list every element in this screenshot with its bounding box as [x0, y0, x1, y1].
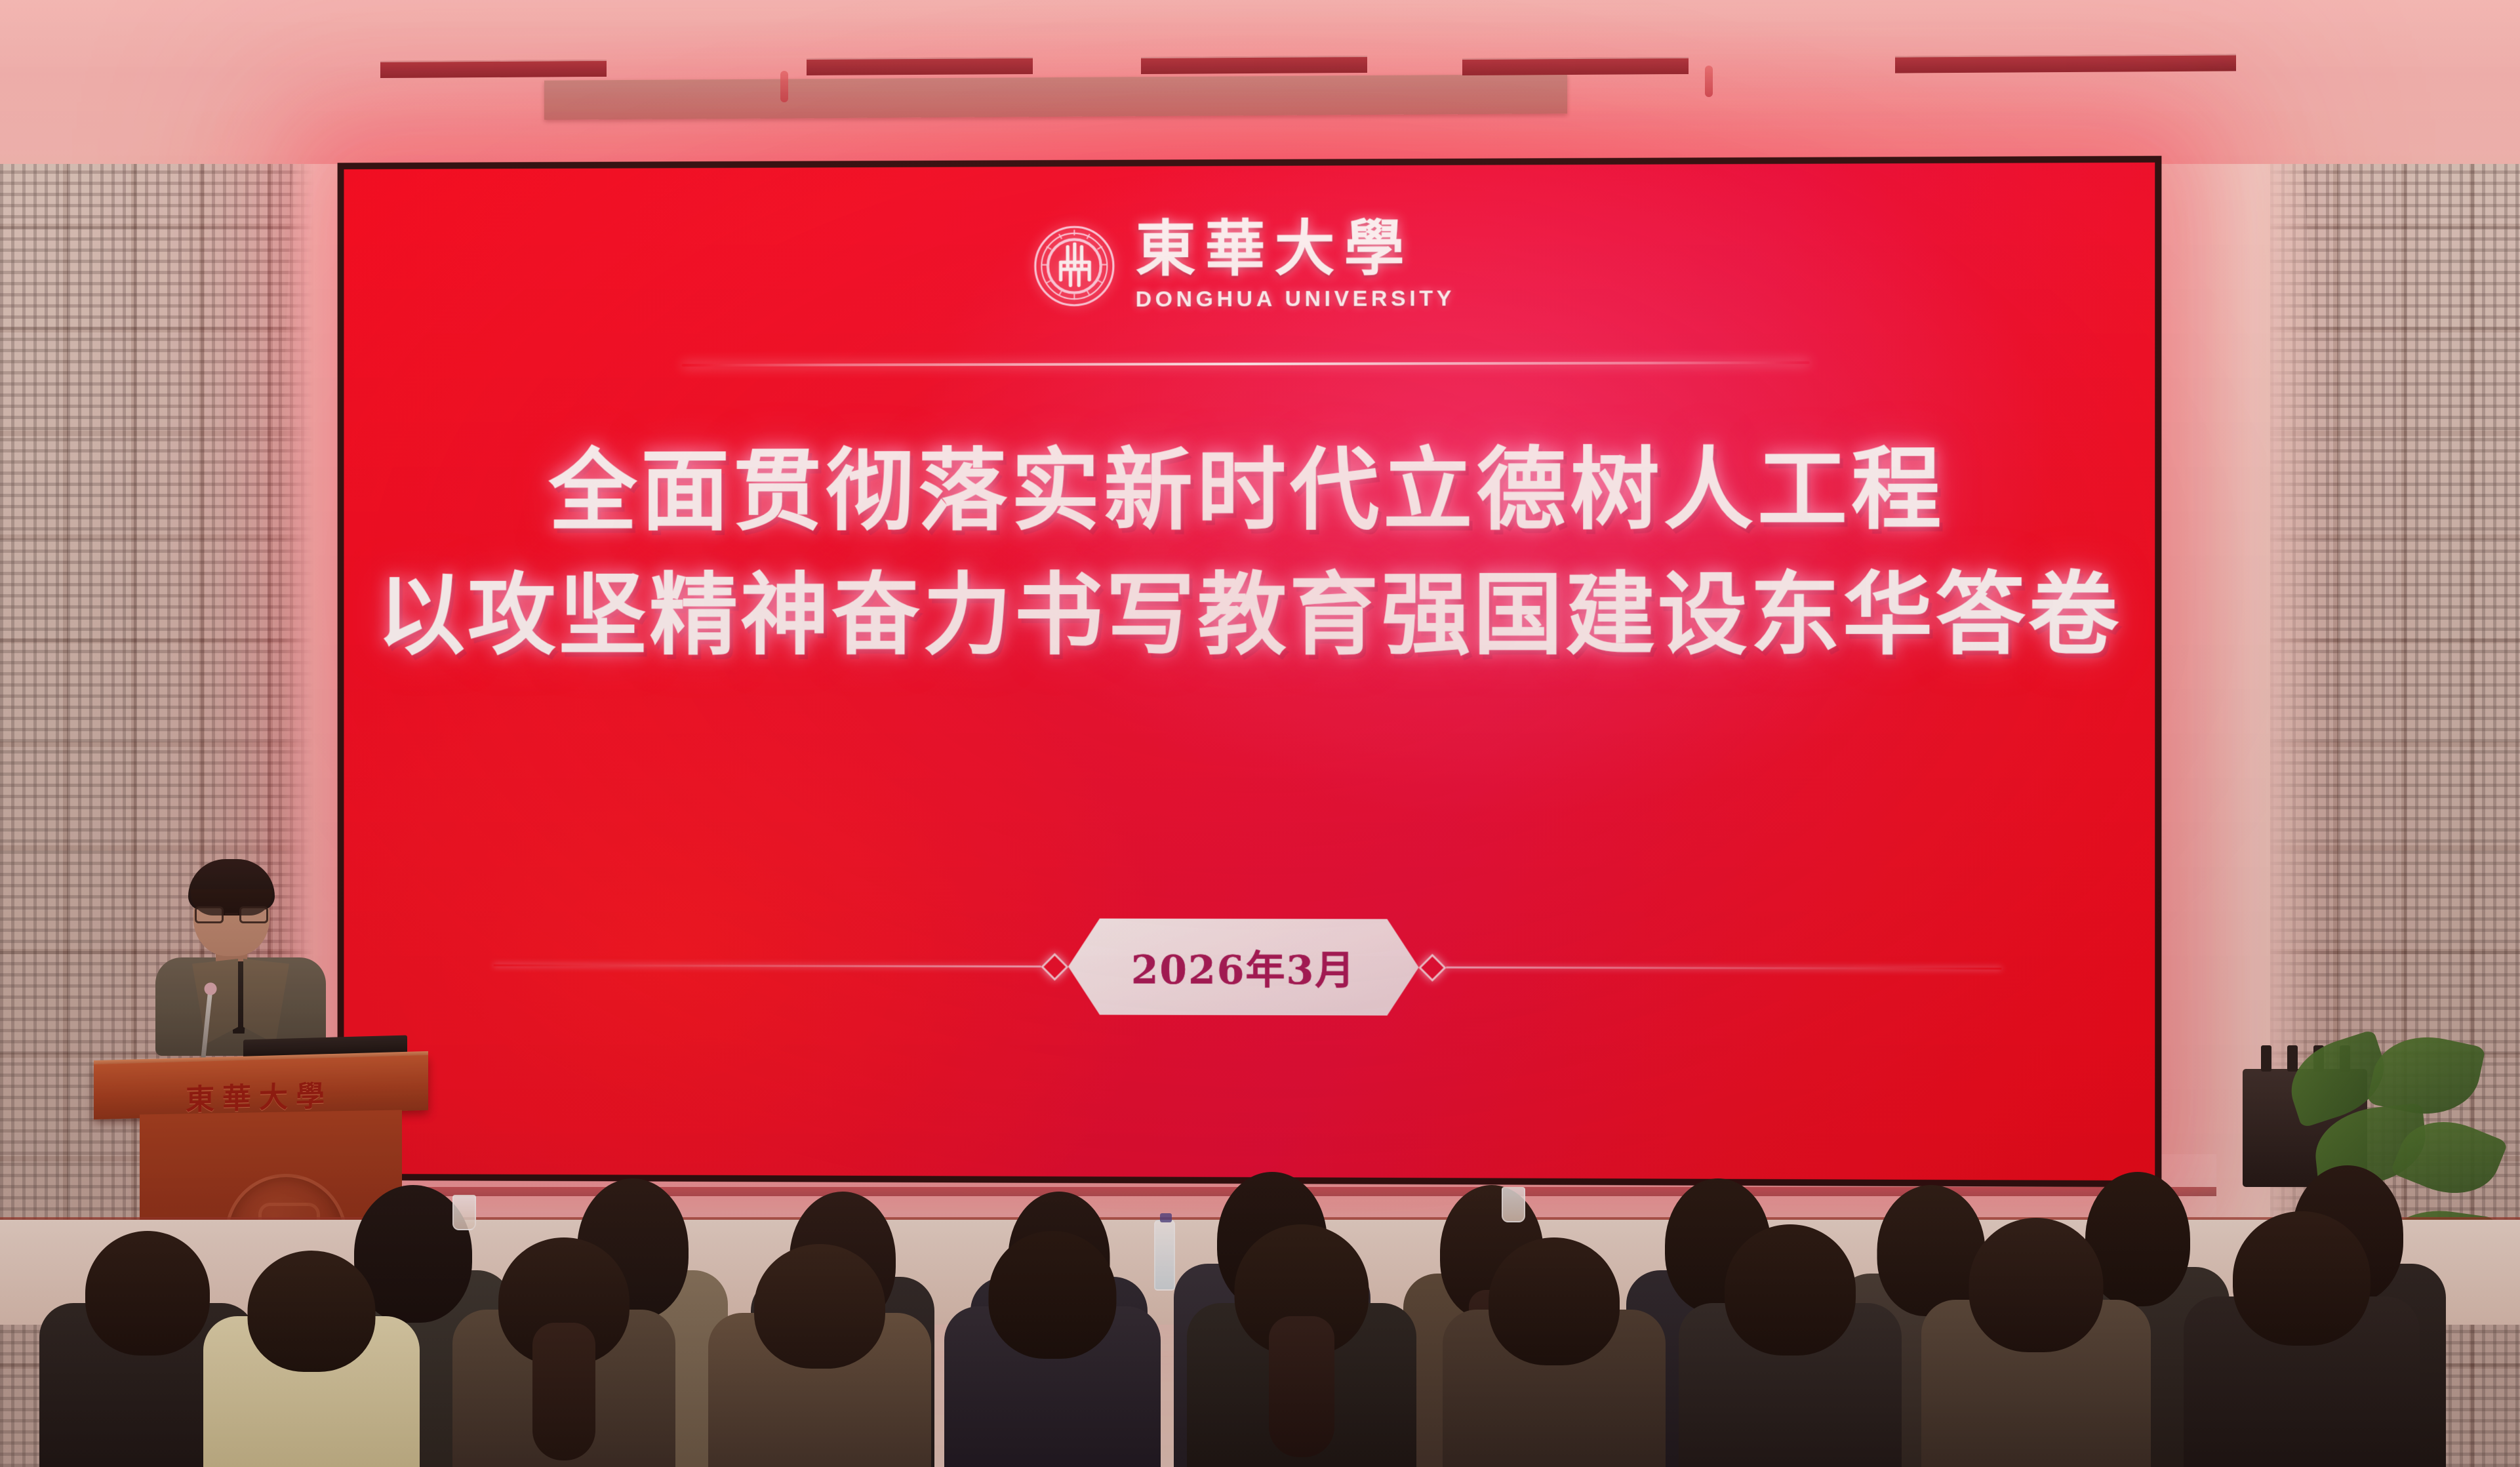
ceiling-vent — [1895, 54, 2236, 73]
ceiling-vent — [1462, 57, 1689, 75]
audience-person-front — [708, 1244, 931, 1467]
audience-person-head — [248, 1251, 376, 1372]
audience-person-head — [989, 1231, 1117, 1359]
audience-person-head — [2233, 1211, 2370, 1346]
audience-person-front — [452, 1237, 675, 1467]
audience-person-head — [1489, 1237, 1620, 1365]
university-logo-block: 東華大學 DONGHUA UNIVERSITY — [344, 215, 2155, 314]
slide-title-line-2: 以攻坚精神奋力书写教育强国建设东华答卷 — [377, 565, 2121, 666]
audience-person-head — [754, 1244, 885, 1369]
speaker-person — [155, 859, 326, 1049]
ornament-line-right — [1447, 967, 2002, 970]
audience-person-head — [1969, 1218, 2104, 1352]
podium-name-plate: 東華大學 — [186, 1072, 332, 1118]
ceiling-vent — [380, 60, 607, 78]
ceiling-vent — [1141, 56, 1367, 74]
audience-person-head — [85, 1231, 210, 1356]
speaker-glasses-icon — [193, 906, 270, 923]
logo-divider — [682, 361, 1810, 367]
ceiling — [0, 0, 2520, 164]
audience-person-front — [1443, 1237, 1666, 1467]
university-name-cn: 東華大學 — [1136, 218, 1414, 279]
ceiling-vent — [807, 57, 1033, 75]
paper-cup — [1502, 1187, 1525, 1222]
ceiling-sprinkler-icon — [780, 71, 788, 102]
conference-hall-scene: 東華大學 DONGHUA UNIVERSITY 全面贯彻落实新时代立德树人工程 … — [0, 0, 2520, 1467]
university-name-en: DONGHUA UNIVERSITY — [1136, 286, 1455, 312]
audience-person-ponytail — [532, 1323, 595, 1460]
audience-person-front — [1921, 1218, 2151, 1467]
audience-area — [0, 1023, 2520, 1467]
slide-title-line-1: 全面贯彻落实新时代立德树人工程 — [549, 440, 1946, 542]
audience-person-front — [203, 1251, 420, 1467]
date-badge: 2026年3月 — [1068, 919, 1419, 1016]
diamond-ornament-icon — [1041, 953, 1068, 980]
speaker-hair — [188, 859, 275, 910]
slide-titles: 全面贯彻落实新时代立德树人工程 以攻坚精神奋力书写教育强国建设东华答卷 — [344, 440, 2155, 666]
ceiling-soffit — [544, 74, 1567, 120]
ceiling-sprinkler-icon — [1705, 66, 1713, 97]
diamond-ornament-icon — [1418, 954, 1447, 981]
paper-cup — [452, 1195, 476, 1230]
audience-person-ponytail — [1269, 1316, 1334, 1457]
university-wordmark: 東華大學 DONGHUA UNIVERSITY — [1136, 218, 1455, 313]
date-badge-text: 2026年3月 — [1131, 938, 1356, 996]
audience-person-head — [1725, 1224, 1856, 1356]
ornament-line-left — [494, 964, 1041, 967]
audience-person-front — [944, 1231, 1161, 1467]
audience-person-front — [1187, 1224, 1416, 1467]
audience-person-front — [2184, 1211, 2420, 1467]
university-seal-icon — [1032, 224, 1116, 308]
slide-date-row: 2026年3月 — [494, 917, 2002, 1017]
audience-person-front — [1679, 1224, 1902, 1467]
